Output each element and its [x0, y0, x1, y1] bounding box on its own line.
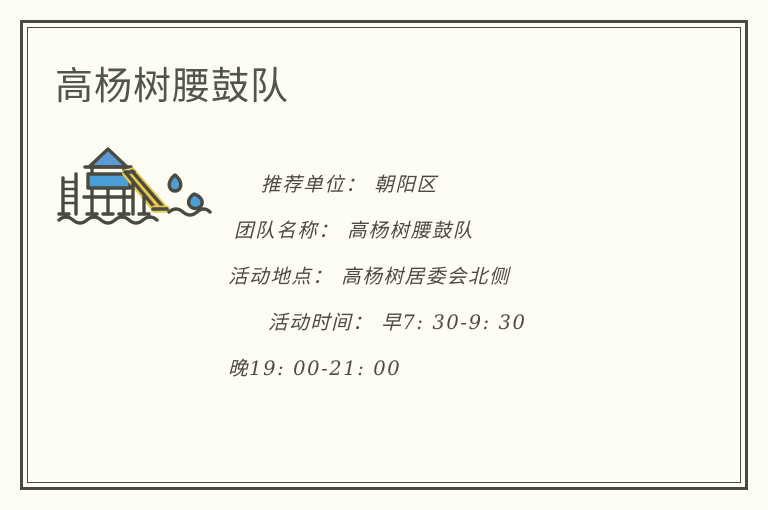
info-line-team-name: 团队名称： 高杨树腰鼓队	[228, 208, 648, 254]
water-slide-playground-icon	[56, 142, 212, 228]
team-info-list: 推荐单位： 朝阳区 团队名称： 高杨树腰鼓队 活动地点： 高杨树居委会北侧 活动…	[228, 162, 648, 392]
info-line-activity-location: 活动地点： 高杨树居委会北侧	[228, 254, 648, 300]
page-title: 高杨树腰鼓队	[55, 64, 289, 110]
info-line-recommend-unit: 推荐单位： 朝阳区	[228, 162, 648, 208]
team-info-card: 高杨树腰鼓队	[0, 0, 768, 510]
info-line-activity-time-morning: 活动时间： 早7: 30-9: 30	[228, 300, 648, 346]
info-line-activity-time-evening: 晚19: 00-21: 00	[228, 346, 648, 392]
